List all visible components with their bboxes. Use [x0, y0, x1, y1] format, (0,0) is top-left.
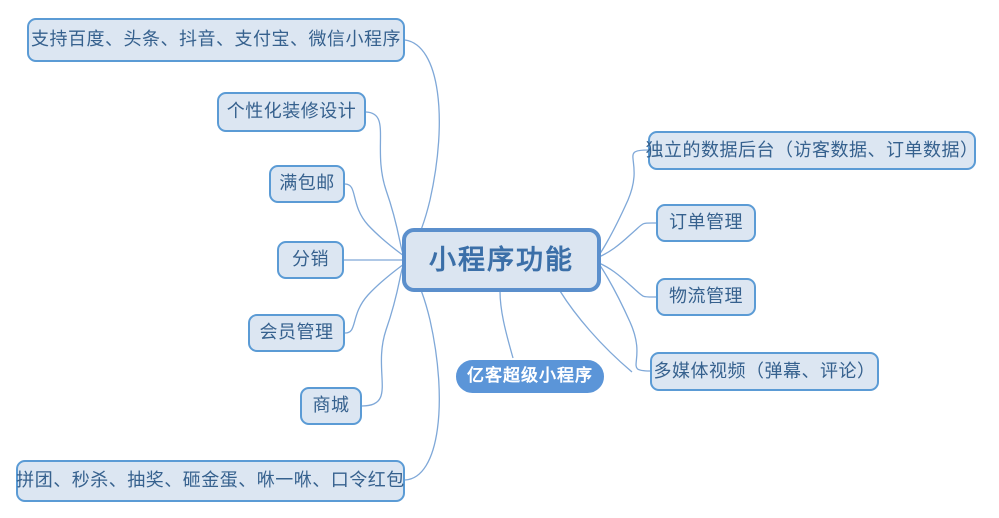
right-node-order-management-label: 订单管理: [669, 214, 743, 232]
connector-left-6: [362, 264, 404, 406]
connector-left-3: [345, 184, 404, 256]
left-node-free-shipping-label: 满包邮: [279, 175, 335, 193]
right-node-logistics-management-label: 物流管理: [669, 288, 743, 306]
connector-left-1: [404, 40, 439, 258]
left-node-mall[interactable]: 商城: [300, 387, 362, 425]
right-node-logistics-management[interactable]: 物流管理: [656, 278, 756, 316]
left-node-member-management[interactable]: 会员管理: [248, 314, 345, 352]
left-node-platforms[interactable]: 支持百度、头条、抖音、支付宝、微信小程序: [27, 18, 405, 62]
mind-map-canvas: 小程序功能 亿客超级小程序 支持百度、头条、抖音、支付宝、微信小程序 个性化装修…: [0, 0, 999, 518]
connector-left-7: [404, 262, 439, 480]
left-node-custom-design-label: 个性化装修设计: [227, 103, 357, 121]
badge-node[interactable]: 亿客超级小程序: [456, 360, 604, 393]
connector-badge: [500, 291, 513, 358]
badge-node-label: 亿客超级小程序: [467, 368, 593, 385]
left-node-member-management-label: 会员管理: [260, 324, 334, 342]
left-node-platforms-label: 支持百度、头条、抖音、支付宝、微信小程序: [31, 31, 401, 49]
connector-right-3: [599, 263, 656, 297]
left-node-free-shipping[interactable]: 满包邮: [269, 165, 345, 203]
left-node-mall-label: 商城: [313, 397, 350, 415]
left-node-custom-design[interactable]: 个性化装修设计: [217, 92, 366, 132]
central-node-label: 小程序功能: [429, 247, 574, 274]
connector-right-2: [599, 223, 656, 257]
connector-right-1: [599, 150, 648, 255]
connector-left-2: [366, 112, 404, 256]
right-node-multimedia-video[interactable]: 多媒体视频（弹幕、评论）: [650, 352, 879, 391]
right-node-data-dashboard-label: 独立的数据后台（访客数据、订单数据）: [646, 142, 979, 160]
right-node-order-management[interactable]: 订单管理: [656, 204, 756, 242]
left-node-marketing-tools-label: 拼团、秒杀、抽奖、砸金蛋、咻一咻、口令红包: [16, 472, 405, 490]
right-node-data-dashboard[interactable]: 独立的数据后台（访客数据、订单数据）: [648, 131, 976, 170]
central-node[interactable]: 小程序功能: [402, 228, 601, 292]
left-node-distribution-label: 分销: [292, 251, 329, 269]
right-node-multimedia-video-label: 多媒体视频（弹幕、评论）: [654, 363, 876, 381]
left-node-marketing-tools[interactable]: 拼团、秒杀、抽奖、砸金蛋、咻一咻、口令红包: [16, 460, 405, 502]
connector-left-5: [345, 264, 404, 333]
connector-right-4: [599, 264, 650, 371]
left-node-distribution[interactable]: 分销: [277, 241, 344, 279]
